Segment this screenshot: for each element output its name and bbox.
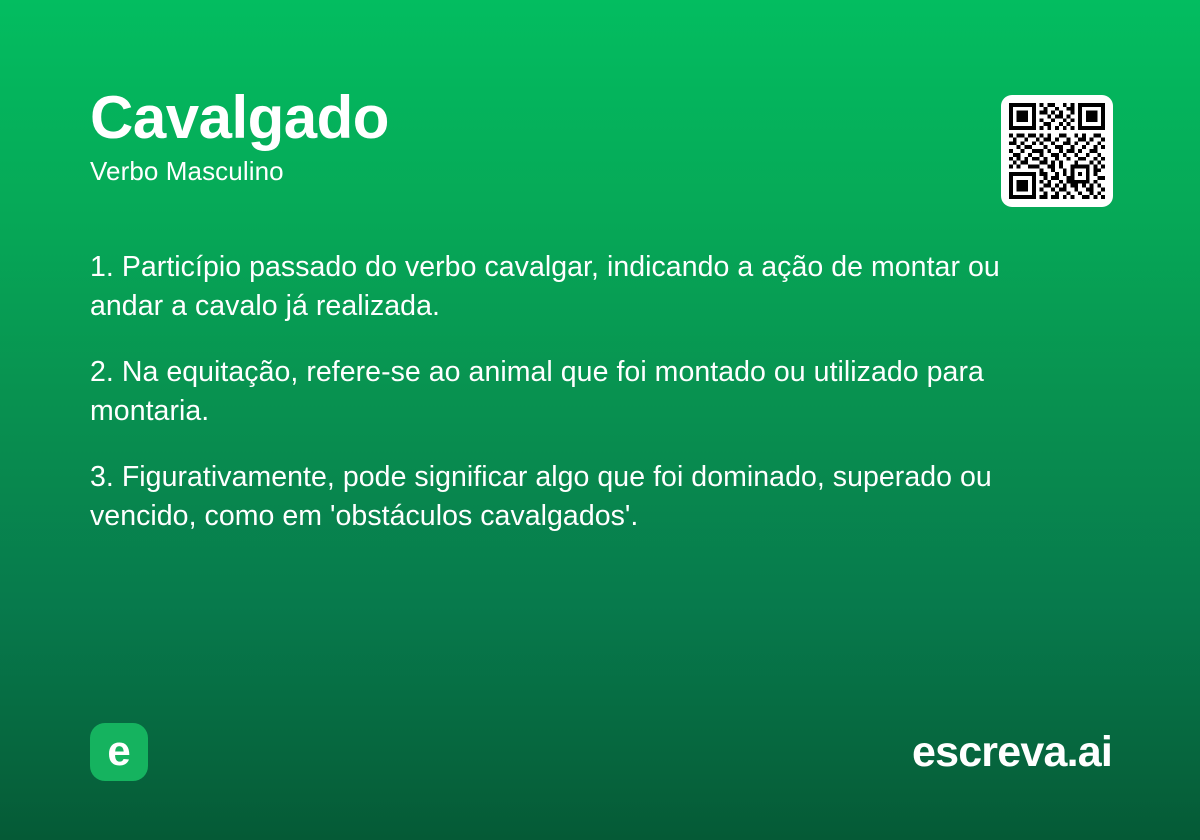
page-title: Cavalgado <box>90 86 970 150</box>
definition-item: 3. Figurativamente, pode significar algo… <box>90 458 1058 536</box>
card-header: Cavalgado Verbo Masculino <box>90 86 970 186</box>
definition-item: 2. Na equitação, refere-se ao animal que… <box>90 353 1058 431</box>
escreva-logo-tile: e <box>90 723 148 781</box>
definition-item: 1. Particípio passado do verbo cavalgar,… <box>90 248 1058 326</box>
qr-code-icon <box>1009 103 1105 199</box>
definition-list: 1. Particípio passado do verbo cavalgar,… <box>90 248 1058 536</box>
word-class-subtitle: Verbo Masculino <box>90 156 970 186</box>
brand-wordmark: escreva.ai <box>912 726 1112 778</box>
logo-letter: e <box>107 730 130 772</box>
definition-card: Cavalgado Verbo Masculino <box>0 0 1200 840</box>
qr-code-panel[interactable] <box>1001 95 1113 207</box>
